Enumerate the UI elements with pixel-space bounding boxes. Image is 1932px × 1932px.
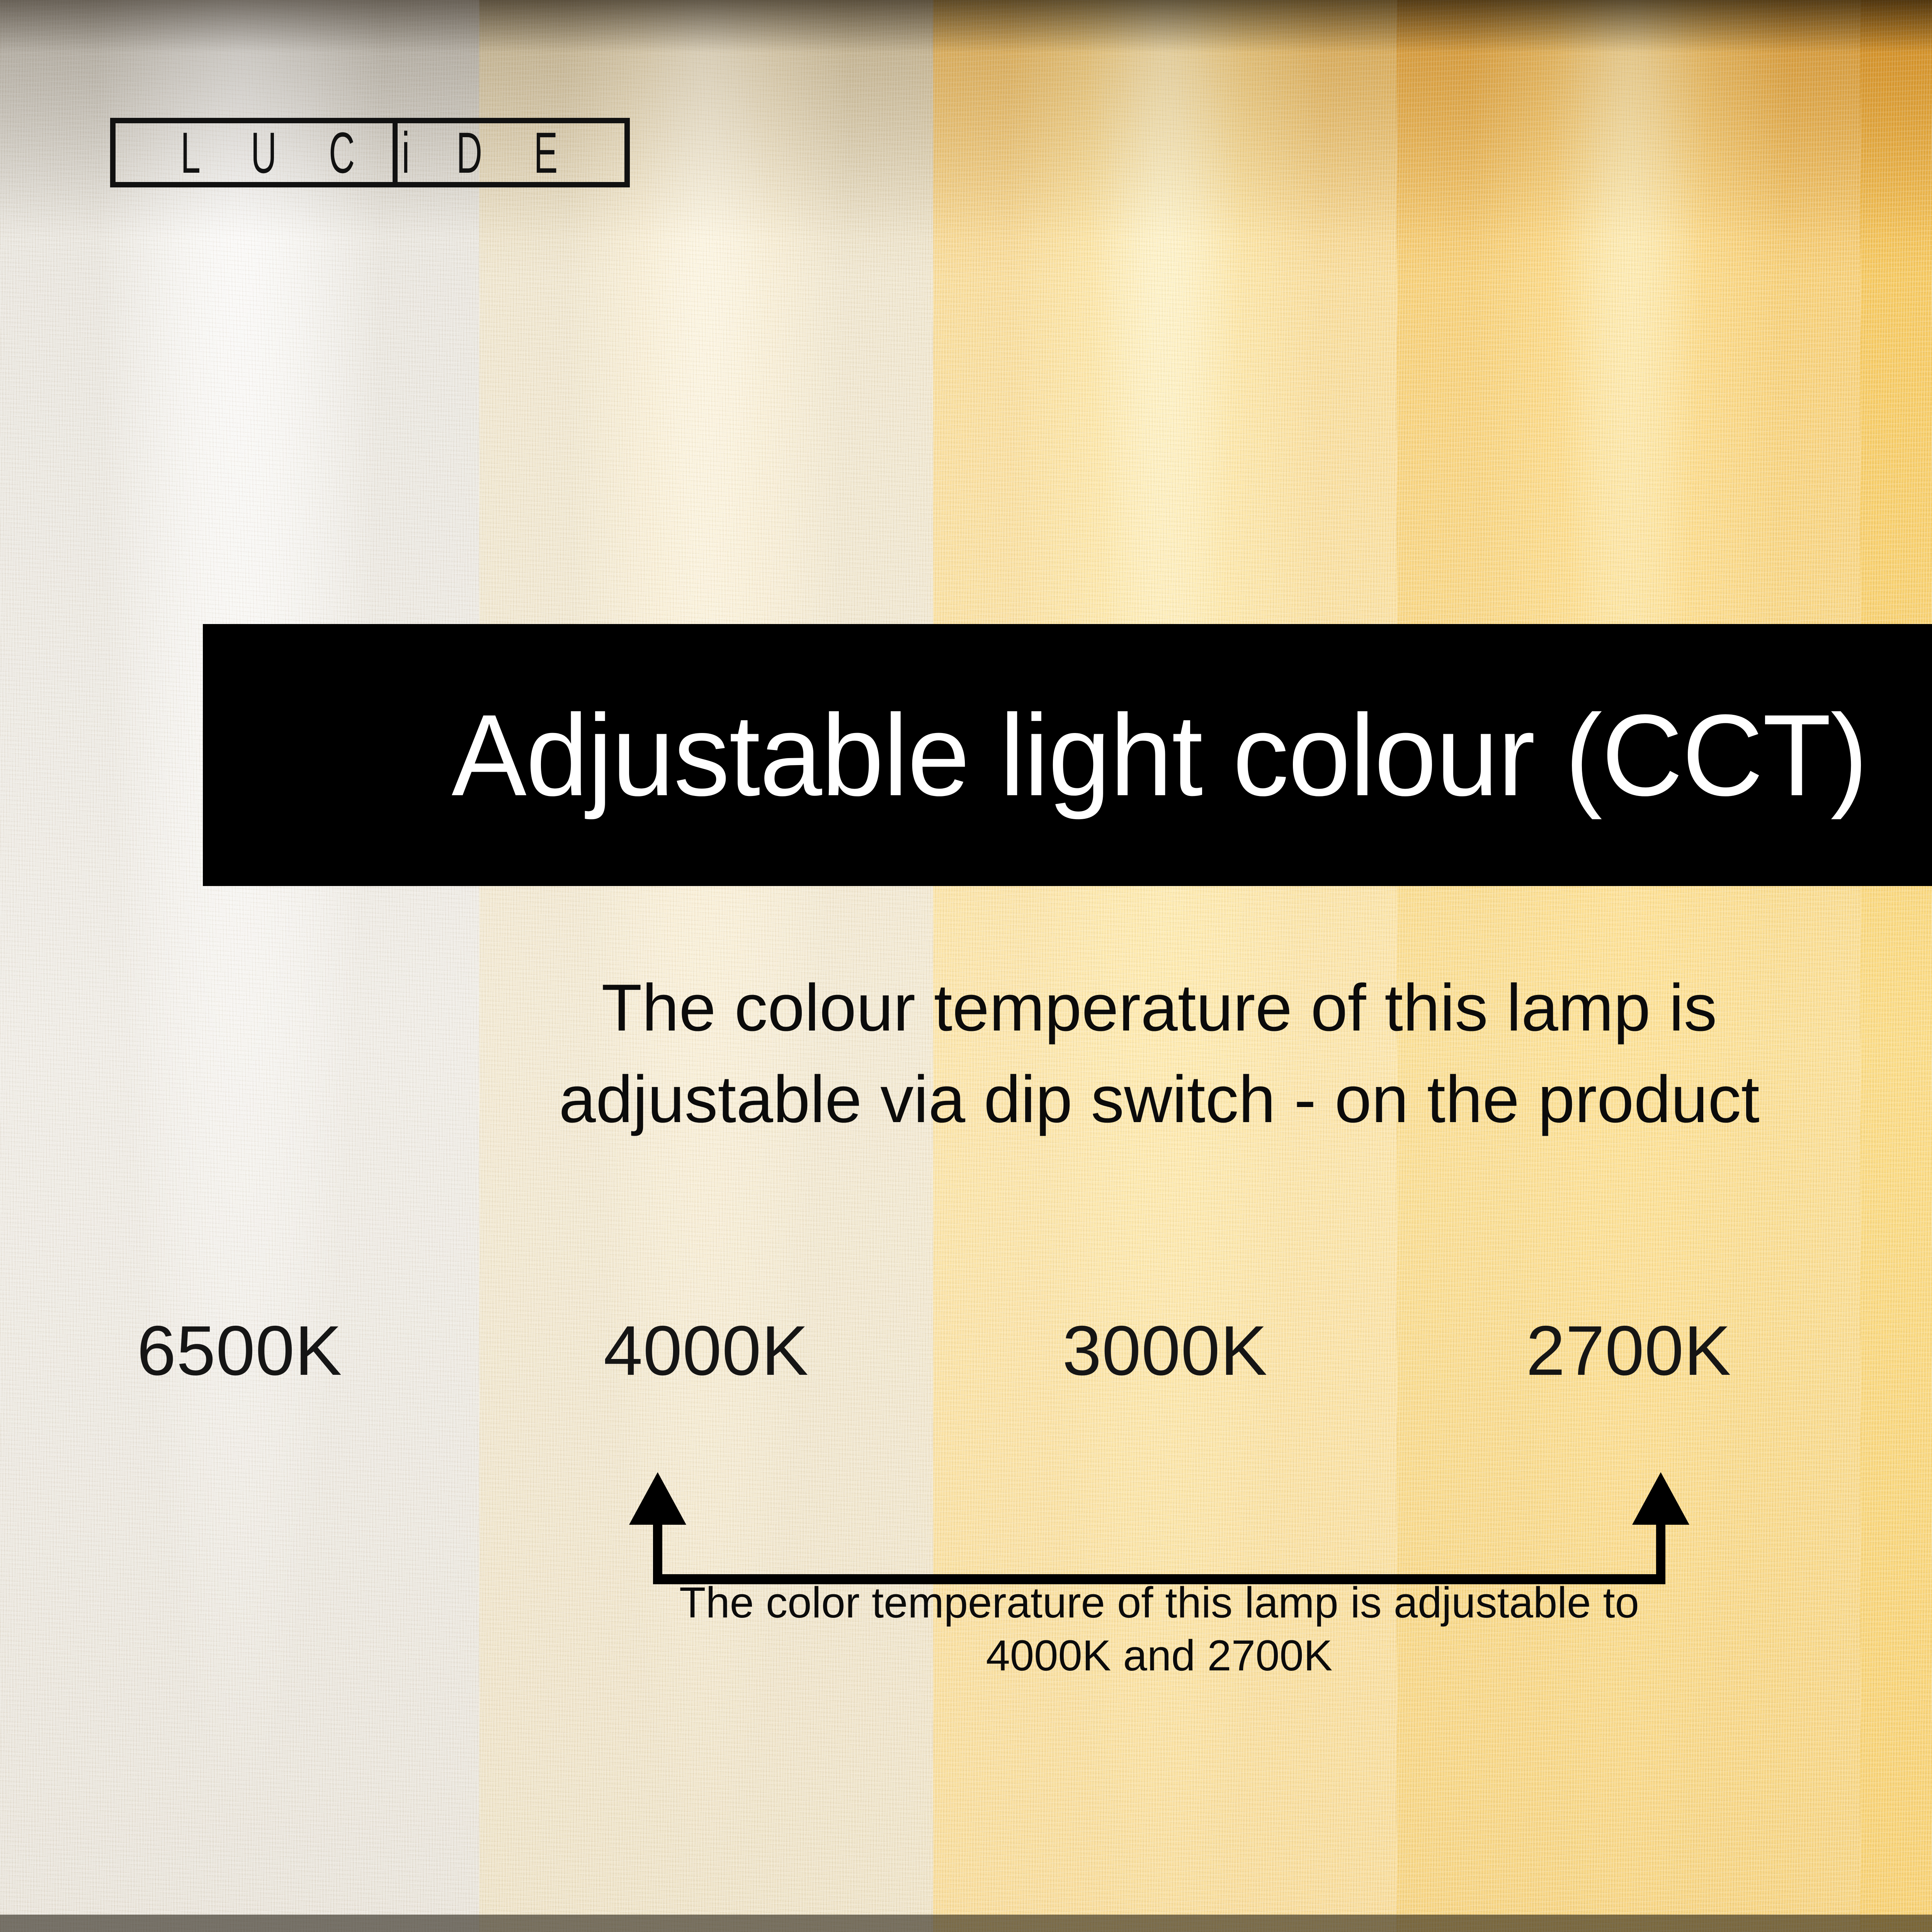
bracket-stem-right <box>1656 1481 1665 1584</box>
lucide-logo: L U C i D E <box>110 118 630 187</box>
kelvin-label-2700k: 2700K <box>1397 1302 1861 1399</box>
kelvin-label-3000k: 3000K <box>933 1302 1397 1399</box>
logo-letter-d: D <box>456 124 483 182</box>
logo-letter-u: U <box>251 124 277 182</box>
subtitle-line-1: The colour temperature of this lamp is <box>0 962 1932 1054</box>
kelvin-label-2200k: 2200K <box>1861 1302 1932 1399</box>
page-title: Adjustable light colour (CCT) <box>451 697 1867 813</box>
ceiling-shadow <box>1397 0 1861 240</box>
logo-letter-e: E <box>534 124 558 182</box>
subtitle-line-2: adjustable via dip switch - on the produ… <box>0 1054 1932 1145</box>
ceiling-shadow <box>933 0 1397 240</box>
title-banner: Adjustable light colour (CCT) <box>203 624 1932 886</box>
ceiling-shadow <box>1861 0 1932 240</box>
kelvin-label-4000k: 4000K <box>479 1302 933 1399</box>
subtitle-block: The colour temperature of this lamp is a… <box>0 962 1932 1146</box>
logo-letters: L U C i D E <box>116 123 624 182</box>
bracket-stem-left <box>653 1481 662 1584</box>
indicator-caption-line-2: 4000K and 2700K <box>0 1629 1932 1682</box>
logo-letter-c: C <box>329 124 355 182</box>
indicator-caption: The color temperature of this lamp is ad… <box>0 1577 1932 1682</box>
adjustable-range-bracket <box>653 1472 1665 1584</box>
poster-canvas: L U C i D E Adjustable light colour (CCT… <box>0 0 1932 1932</box>
bottom-overlay-strip <box>0 1915 1932 1932</box>
indicator-caption-line-1: The color temperature of this lamp is ad… <box>0 1577 1932 1629</box>
kelvin-label-row: 6500K 4000K 3000K 2700K 2200K <box>0 1302 1932 1399</box>
kelvin-label-6500k: 6500K <box>0 1302 479 1399</box>
logo-letter-i: i <box>401 124 410 182</box>
logo-letter-l: L <box>180 124 201 182</box>
